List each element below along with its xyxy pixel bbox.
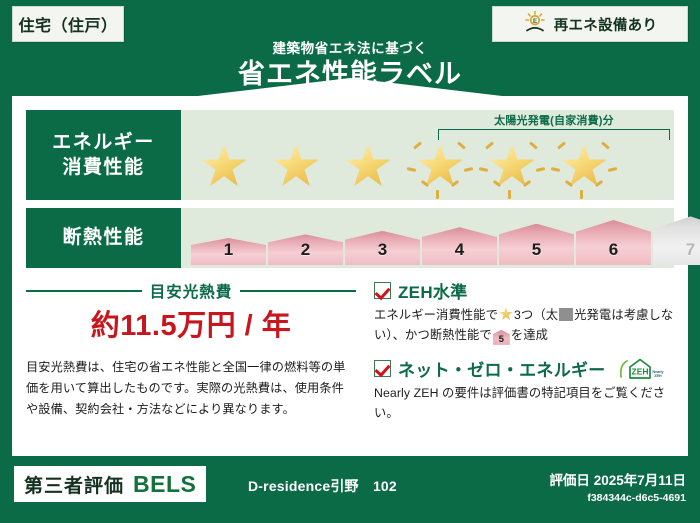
energy-tag-line2: 消費性能	[62, 155, 144, 180]
project-name: D-residence引野 102	[248, 476, 397, 496]
star-icon	[333, 130, 403, 196]
net-zero-checkbox	[374, 360, 391, 377]
insulation-performance-tag: 断熱性能	[26, 208, 181, 268]
star-shape	[411, 138, 469, 194]
bels-en-label: BELS	[133, 471, 196, 498]
net-zero-title: ネット・ゼロ・エネルギー	[398, 356, 606, 381]
insulation-level-1: 1	[191, 238, 266, 265]
evaluation-id: f384344c-d6c5-4691	[549, 492, 686, 504]
label-card: エネルギー 消費性能 太陽光発電(自家消費)分 断熱性能 1234567	[12, 96, 688, 456]
zeh-standard-body: エネルギー消費性能で3つ（太光発電は考慮しない）、かつ断熱性能で5を達成	[374, 306, 674, 346]
energy-performance-label: 建築物省エネ法に基づく 省エネ性能ラベル 住宅（住戸） E 再エネ設備あり	[0, 0, 700, 523]
bels-jp-label: 第三者評価	[24, 471, 124, 498]
cost-rule-right	[240, 290, 356, 292]
insulation-level-3: 3	[345, 231, 420, 265]
energy-rating-panel: 太陽光発電(自家消費)分	[181, 110, 674, 200]
zeh-standard-item: ZEH水準 エネルギー消費性能で3つ（太光発電は考慮しない）、かつ断熱性能で5を…	[374, 278, 674, 346]
zeh-standard-header: ZEH水準	[374, 278, 674, 303]
label-title: 建築物省エネ法に基づく 省エネ性能ラベル	[0, 42, 700, 92]
star-solar-icon	[405, 130, 475, 196]
insulation-level-6: 6	[576, 220, 651, 265]
star-shape	[339, 138, 397, 194]
zeh-block: ZEH水準 エネルギー消費性能で3つ（太光発電は考慮しない）、かつ断熱性能で5を…	[374, 278, 674, 442]
svg-text:ZEH: ZEH	[654, 374, 662, 378]
zeh-body-text-2: 3つ（太	[514, 308, 558, 322]
star-shape	[555, 138, 613, 194]
zeh-logo-icon: ZEH Nearly ZEH	[618, 356, 664, 380]
inline-house-icon: 5	[493, 330, 510, 345]
svg-text:ZEH: ZEH	[631, 367, 648, 377]
insulation-level-number: 2	[301, 241, 310, 265]
energy-performance-tag: エネルギー 消費性能	[26, 110, 181, 200]
redaction-block	[559, 308, 573, 321]
insulation-level-number: 7	[686, 241, 695, 265]
net-zero-header: ネット・ゼロ・エネルギー ZEH Nearly ZEH	[374, 356, 674, 381]
star-shape	[267, 138, 325, 194]
zeh-standard-title: ZEH水準	[398, 278, 468, 303]
building-type-label: 住宅（住戸）	[18, 12, 117, 36]
details-section: 目安光熱費 約11.5万円 / 年 目安光熱費は、住宅の省エネ性能と全国一律の燃…	[26, 278, 674, 442]
insulation-level-2: 2	[268, 234, 343, 265]
evaluation-date: 評価日 2025年7月11日	[549, 469, 686, 489]
zeh-body-text-4: を達成	[511, 328, 548, 342]
insulation-level-number: 6	[609, 241, 618, 265]
insulation-level-number: 1	[224, 241, 233, 265]
insulation-level-7: 7	[653, 216, 700, 265]
star-icon	[261, 130, 331, 196]
utility-cost-note: 目安光熱費は、住宅の省エネ性能と全国一律の燃料等の単価を用いて算出したものです。…	[26, 357, 356, 420]
insulation-rating-panel: 1234567	[181, 208, 674, 268]
building-type-badge: 住宅（住戸）	[12, 6, 124, 42]
solar-bracket-label: 太陽光発電(自家消費)分	[438, 112, 670, 128]
star-icon	[189, 130, 259, 196]
solar-sun-icon: E	[523, 10, 547, 39]
utility-cost-label: 目安光熱費	[150, 280, 233, 302]
zeh-standard-checkbox	[374, 282, 391, 299]
net-zero-energy-item: ネット・ゼロ・エネルギー ZEH Nearly ZEH Nearly ZEH の…	[374, 356, 674, 424]
bels-badge: 第三者評価 BELS	[14, 466, 206, 502]
insulation-level-5: 5	[499, 224, 574, 265]
insulation-level-number: 5	[532, 241, 541, 265]
utility-cost-heading: 目安光熱費	[26, 280, 356, 302]
cost-rule-left	[26, 290, 142, 292]
evaluation-info: 評価日 2025年7月11日 f384344c-d6c5-4691	[549, 469, 686, 504]
title-main: 省エネ性能ラベル	[0, 58, 700, 92]
energy-tag-line1: エネルギー	[52, 130, 155, 155]
energy-performance-row: エネルギー 消費性能 太陽光発電(自家消費)分	[26, 110, 674, 200]
title-subtitle: 建築物省エネ法に基づく	[0, 42, 700, 57]
insulation-performance-row: 断熱性能 1234567	[26, 208, 674, 268]
renewable-equipment-label: 再エネ設備あり	[554, 14, 658, 35]
insulation-tag-label: 断熱性能	[62, 227, 144, 250]
energy-star-rating	[189, 130, 619, 196]
net-zero-body: Nearly ZEH の要件は評価書の特記項目をご覧ください。	[374, 384, 674, 424]
utility-cost-value: 約11.5万円 / 年	[26, 311, 356, 343]
star-solar-icon	[477, 130, 547, 196]
star-solar-icon	[549, 130, 619, 196]
utility-cost-block: 目安光熱費 約11.5万円 / 年 目安光熱費は、住宅の省エネ性能と全国一律の燃…	[26, 278, 356, 442]
zeh-body-text-1: エネルギー消費性能で	[374, 308, 498, 322]
star-shape	[195, 138, 253, 194]
star-shape	[483, 138, 541, 194]
insulation-level-scale: 1234567	[191, 216, 700, 265]
insulation-level-4: 4	[422, 227, 497, 265]
footer-bar: 第三者評価 BELS D-residence引野 102 評価日 2025年7月…	[0, 456, 700, 523]
renewable-equipment-badge: E 再エネ設備あり	[492, 6, 688, 42]
inline-star-icon	[499, 307, 513, 321]
insulation-level-number: 3	[378, 241, 387, 265]
insulation-level-number: 4	[455, 241, 464, 265]
svg-text:E: E	[533, 19, 537, 25]
